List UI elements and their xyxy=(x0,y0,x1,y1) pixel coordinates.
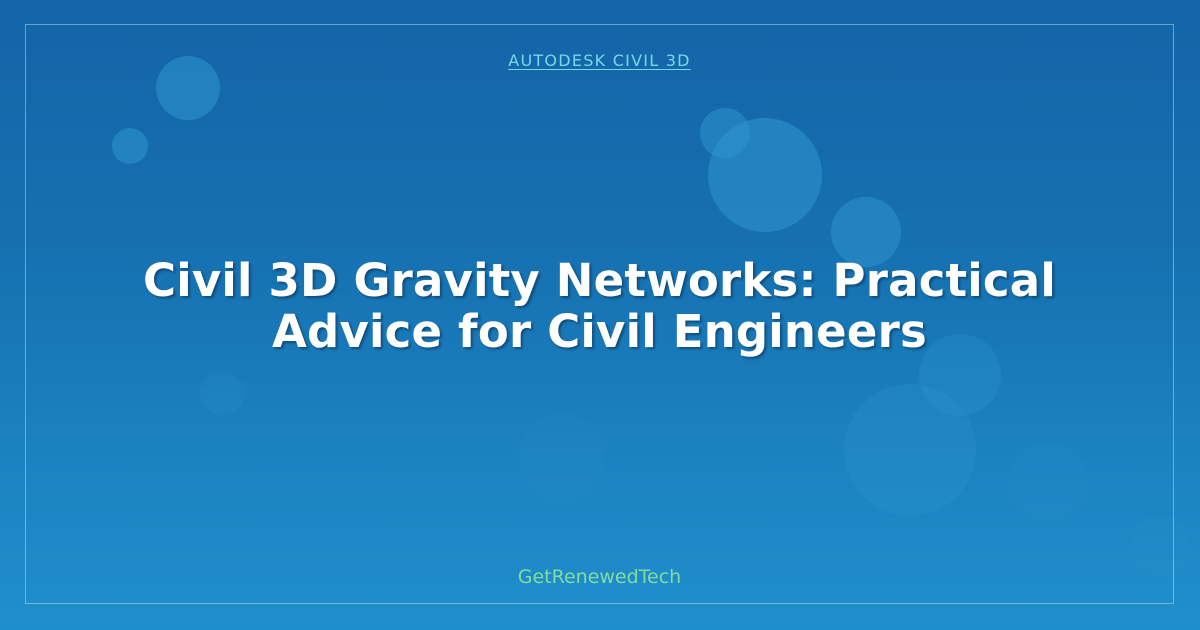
product-category-label[interactable]: AUTODESK CIVIL 3D xyxy=(508,51,691,70)
page-title: Civil 3D Gravity Networks: Practical Adv… xyxy=(60,256,1139,358)
brand-footer-label: GetRenewedTech xyxy=(25,566,1174,588)
social-share-card: AUTODESK CIVIL 3D Civil 3D Gravity Netwo… xyxy=(0,0,1200,630)
title-block: Civil 3D Gravity Networks: Practical Adv… xyxy=(25,256,1174,358)
card-content: AUTODESK CIVIL 3D Civil 3D Gravity Netwo… xyxy=(25,24,1174,604)
